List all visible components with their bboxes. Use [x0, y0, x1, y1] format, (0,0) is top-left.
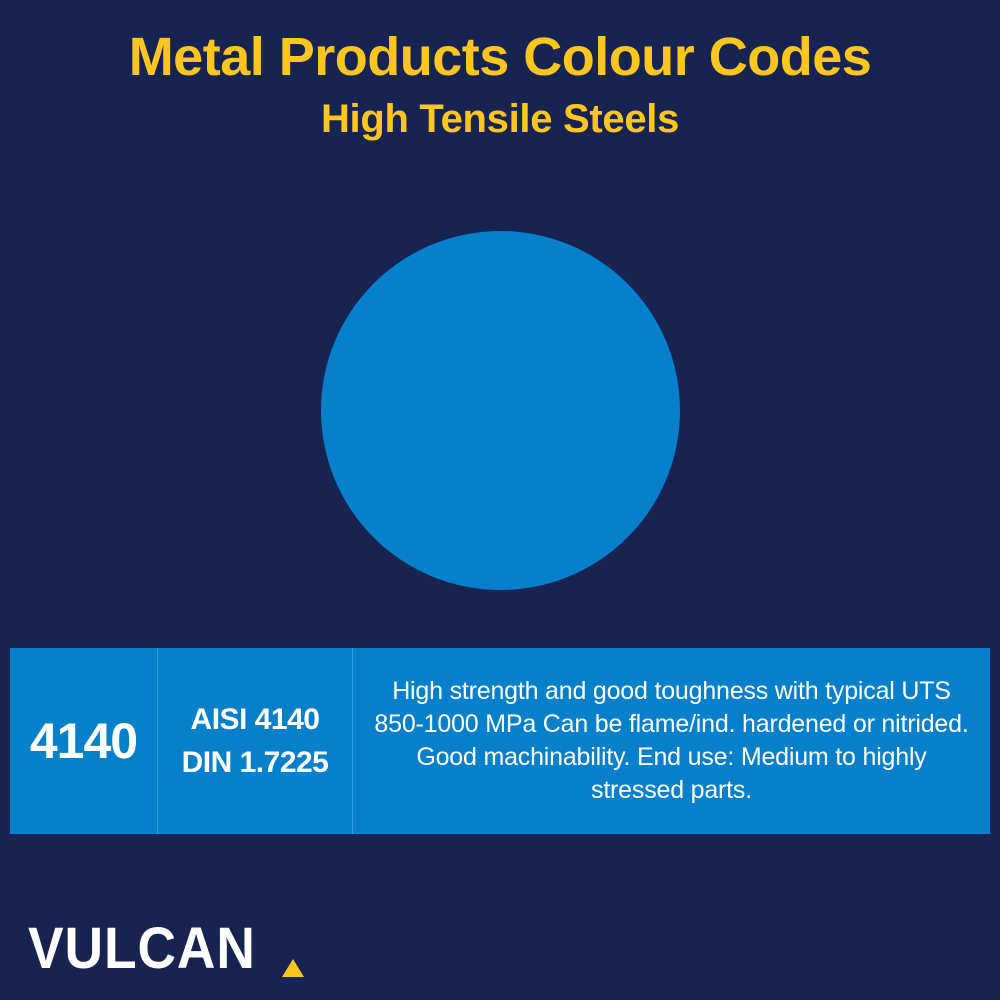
header: Metal Products Colour Codes High Tensile…: [0, 26, 1000, 142]
grade-number: 4140: [30, 716, 137, 766]
grade-info-bar: 4140 AISI 4140 DIN 1.7225 High strength …: [10, 648, 990, 834]
brand-logo: VULCAN: [28, 912, 304, 978]
logo-wordmark: VULCAN: [28, 920, 256, 978]
poster-root: Metal Products Colour Codes High Tensile…: [0, 0, 1000, 1000]
spec-line-aisi: AISI 4140: [191, 698, 320, 742]
colour-swatch-circle: [321, 231, 680, 590]
colour-swatch-area: [0, 195, 1000, 625]
grade-cell: 4140: [10, 648, 158, 834]
logo-triangle-icon: [282, 959, 304, 977]
page-title: Metal Products Colour Codes: [0, 26, 1000, 88]
description-cell: High strength and good toughness with ty…: [353, 648, 990, 834]
description-text: High strength and good toughness with ty…: [369, 675, 974, 807]
spec-cell: AISI 4140 DIN 1.7225: [158, 648, 353, 834]
page-subtitle: High Tensile Steels: [0, 96, 1000, 142]
spec-line-din: DIN 1.7225: [182, 741, 329, 785]
